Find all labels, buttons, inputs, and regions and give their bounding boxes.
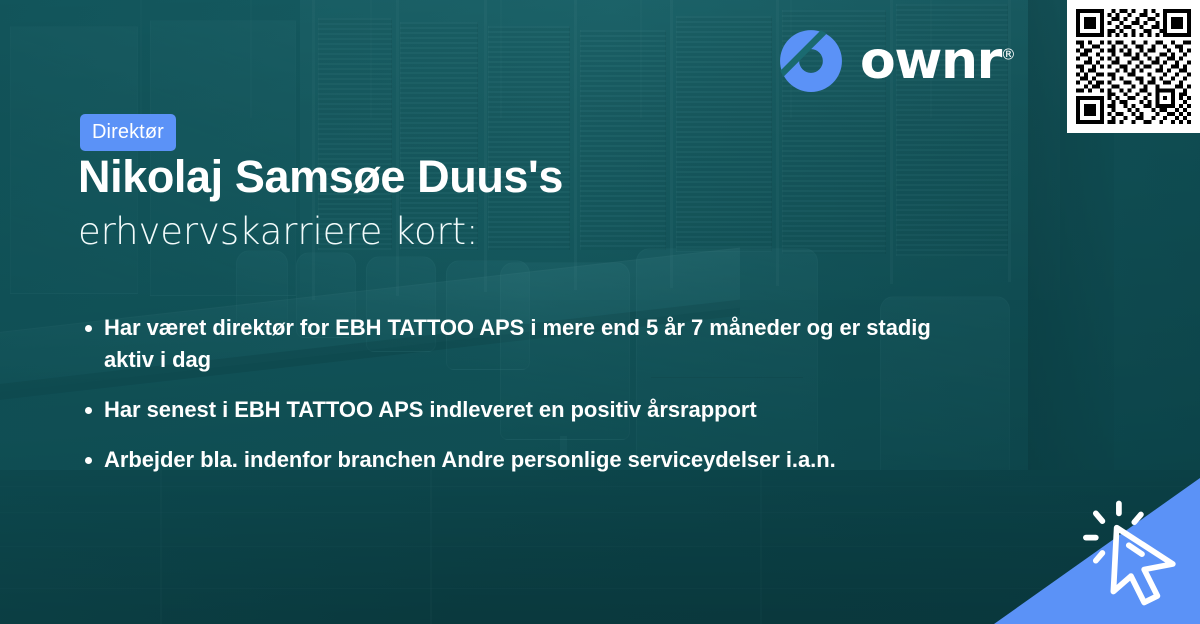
list-item: Har været direktør for EBH TATTOO APS i … [78,312,938,376]
career-highlights-list: Har været direktør for EBH TATTOO APS i … [78,312,938,494]
page-subtitle: erhvervskarriere kort: [78,211,478,254]
list-item: Har senest i EBH TATTOO APS indleveret e… [78,394,938,426]
page-title: Nikolaj Samsøe Duus's [78,152,563,202]
qr-code-panel[interactable] [1067,0,1200,133]
ownr-wordmark: ownr® [860,35,1016,87]
qr-code[interactable] [1076,9,1191,124]
registered-trademark-mark: ® [1001,46,1016,64]
ownr-circle-swirl-icon [778,28,844,94]
role-badge: Direktør [80,114,176,151]
click-cursor-icon [1076,498,1186,608]
ownr-logo[interactable]: ownr® [778,28,1016,94]
list-item: Arbejder bla. indenfor branchen Andre pe… [78,444,938,476]
brand-name: ownr [860,31,1001,91]
career-card-banner: ownr® Direktør Nikolaj Samsøe Duus's erh… [0,0,1200,624]
